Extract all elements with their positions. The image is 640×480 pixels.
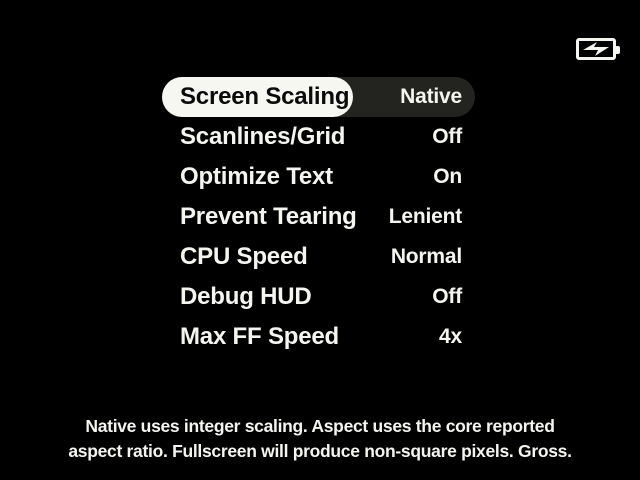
menu-row[interactable]: Optimize Text On: [0, 157, 640, 197]
status-bar: [0, 0, 640, 72]
lightning-bolt-icon: [581, 42, 611, 56]
menu-item-label: Debug HUD: [180, 277, 312, 317]
menu-row[interactable]: Debug HUD Off: [0, 277, 640, 317]
settings-screen: Screen Scaling Native Scanlines/Grid Off…: [0, 0, 640, 480]
menu-item-value[interactable]: Normal: [300, 237, 462, 277]
menu-item-label: CPU Speed: [180, 237, 308, 277]
battery-charging-icon: [576, 38, 616, 60]
help-text: Native uses integer scaling. Aspect uses…: [0, 414, 640, 464]
menu-row[interactable]: CPU Speed Normal: [0, 237, 640, 277]
menu-item-value[interactable]: Off: [300, 117, 462, 157]
menu-item-value[interactable]: Lenient: [300, 197, 462, 237]
menu-item-value[interactable]: Native: [300, 77, 462, 117]
menu-row[interactable]: Screen Scaling Native: [0, 77, 640, 117]
menu-row[interactable]: Max FF Speed 4x: [0, 317, 640, 357]
settings-menu[interactable]: Screen Scaling Native Scanlines/Grid Off…: [0, 77, 640, 357]
menu-row[interactable]: Scanlines/Grid Off: [0, 117, 640, 157]
menu-item-value[interactable]: On: [300, 157, 462, 197]
menu-item-value[interactable]: Off: [300, 277, 462, 317]
help-text-line-2: aspect ratio. Fullscreen will produce no…: [22, 439, 618, 464]
help-text-line-1: Native uses integer scaling. Aspect uses…: [22, 414, 618, 439]
menu-row[interactable]: Prevent Tearing Lenient: [0, 197, 640, 237]
menu-item-value[interactable]: 4x: [300, 317, 462, 357]
